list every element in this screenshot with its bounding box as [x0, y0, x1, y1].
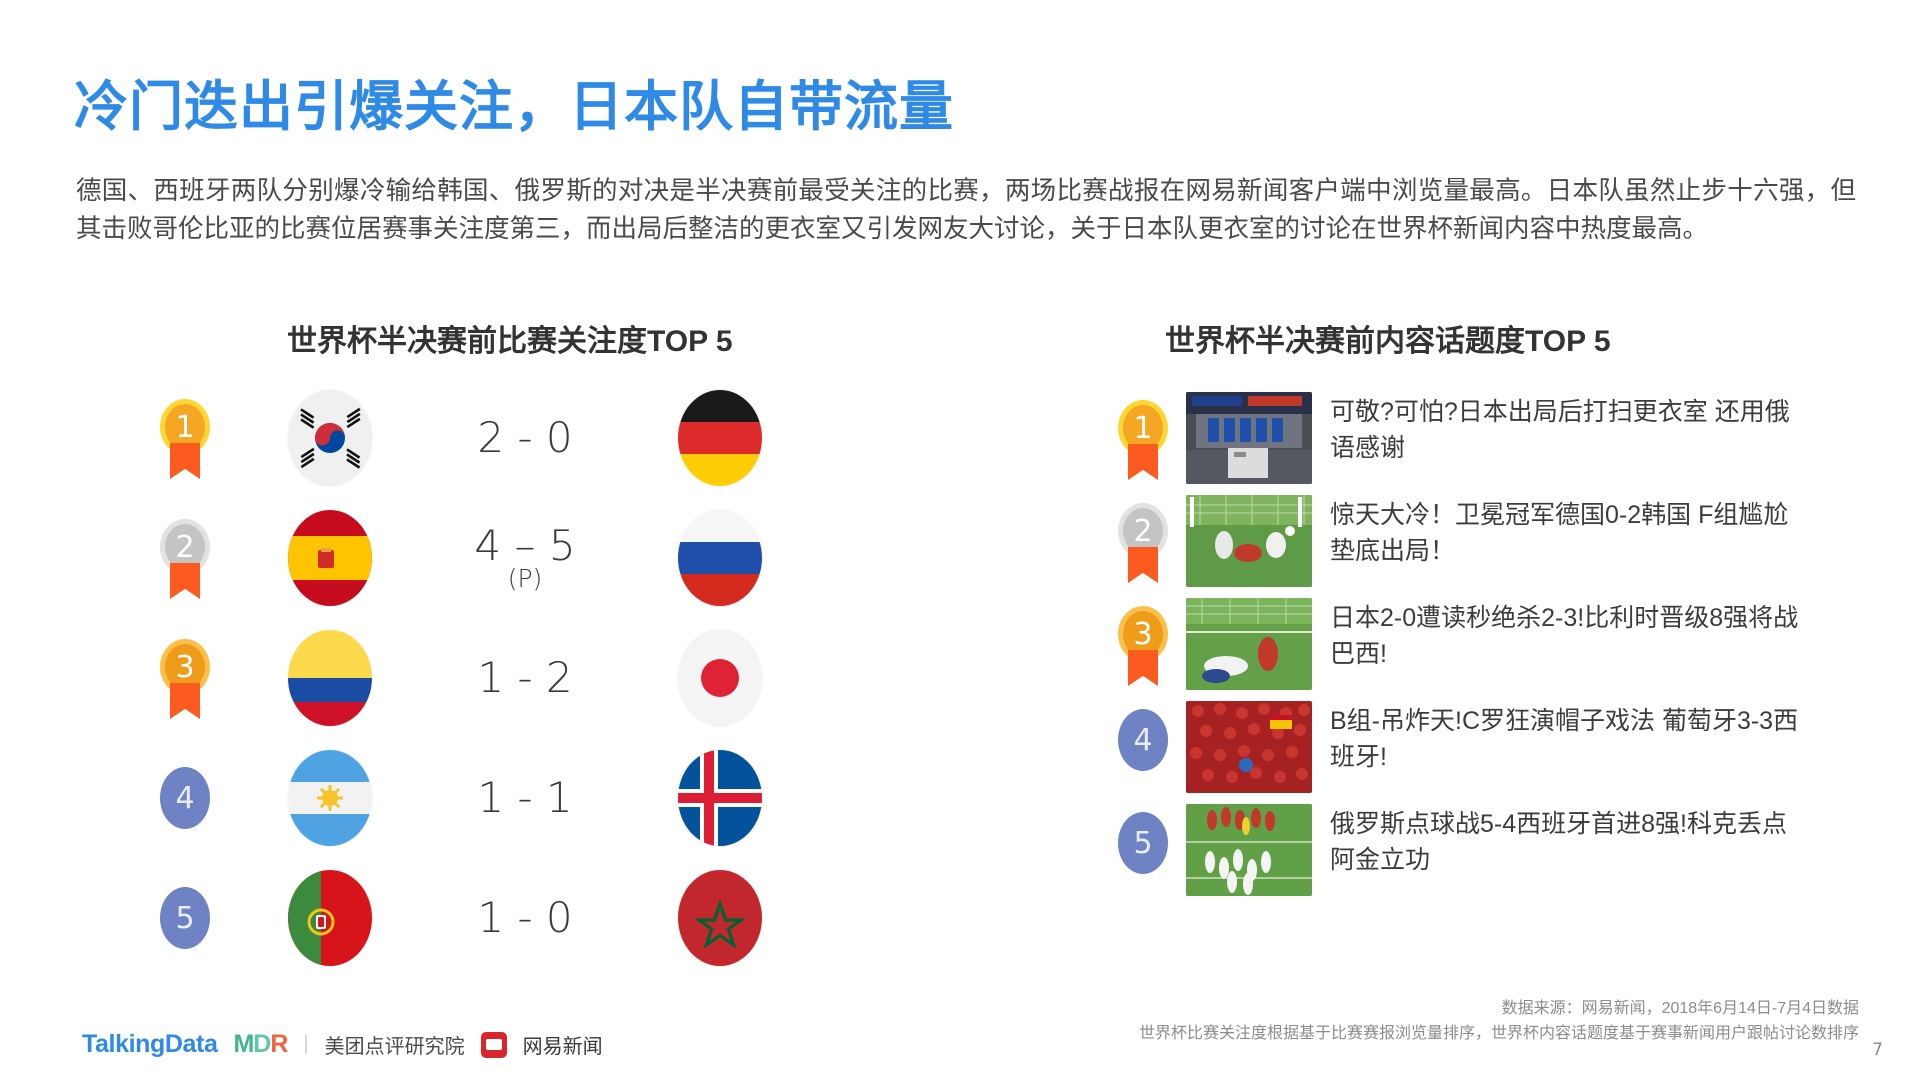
left-panel-heading: 世界杯半决赛前比赛关注度TOP 5	[287, 316, 733, 360]
medal-ribbon	[1128, 444, 1158, 480]
topic-headline[interactable]: 俄罗斯点球战5-4西班牙首进8强!科克丢点阿金立功	[1330, 804, 1800, 878]
topic-row: 3 日本2-0遭读秒绝杀2-3!比利时晋级8强将战巴西!	[1100, 598, 1890, 701]
match-list: 1	[120, 378, 920, 978]
topic-headline[interactable]: 可敬?可怕?日本出局后打扫更衣室 还用俄语感谢	[1330, 392, 1800, 466]
bronze-medal-icon: 3	[1114, 606, 1172, 684]
match-row: 3 1 - 2	[120, 618, 920, 738]
talkingdata-logo: TalkingData	[82, 1030, 217, 1059]
score-cell: 4 – 5 (P)	[410, 524, 640, 592]
mdr-logo: MDR	[233, 1030, 287, 1059]
medal-ribbon	[1128, 547, 1158, 583]
rank-cell: 2	[1100, 495, 1186, 581]
locker-room-photo[interactable]	[1186, 392, 1312, 484]
rank-circle-5: 5	[160, 887, 210, 949]
netease-news-logo: 网易新闻	[523, 1030, 603, 1059]
gold-medal-icon: 1	[1114, 400, 1172, 478]
medal-ribbon	[170, 563, 200, 599]
score-cell: 1 - 2	[410, 656, 640, 700]
source-line-1: 数据来源：网易新闻，2018年6月14日-7月4日数据	[759, 996, 1859, 1021]
gold-medal-icon: 1	[156, 399, 214, 477]
players-on-pitch-photo[interactable]	[1186, 598, 1312, 690]
flag-co-icon	[288, 630, 372, 726]
slide-root: 冷门迭出引爆关注，日本队自带流量 德国、西班牙两队分别爆冷输给韩国、俄罗斯的对决…	[0, 0, 1921, 1080]
score-value: 2 - 0	[477, 413, 572, 462]
flag-de-icon	[678, 390, 762, 486]
match-row: 1	[120, 378, 920, 498]
rank-cell: 4	[120, 767, 250, 829]
silver-medal-icon: 2	[1114, 503, 1172, 581]
rank-cell: 5	[1100, 804, 1186, 874]
logo-bar: TalkingData MDR | 美团点评研究院 网易新闻	[82, 1030, 603, 1059]
away-flag-cell	[640, 750, 800, 846]
rank-cell: 4	[1100, 701, 1186, 771]
rank-circle-4: 4	[1118, 709, 1168, 771]
match-row: 2 4 – 5 (P)	[120, 498, 920, 618]
rank-cell: 3	[1100, 598, 1186, 684]
score-cell: 1 - 0	[410, 896, 640, 940]
source-note: 数据来源：网易新闻，2018年6月14日-7月4日数据 世界杯比赛关注度根据基于…	[759, 996, 1859, 1046]
rank-circle-5: 5	[1118, 812, 1168, 874]
score-cell: 2 - 0	[410, 416, 640, 460]
bronze-medal-icon: 3	[156, 639, 214, 717]
flag-pt-icon	[288, 870, 372, 966]
flag-es-icon	[288, 510, 372, 606]
topic-list: 1	[1100, 392, 1890, 907]
meituan-research-logo: 美团点评研究院	[325, 1030, 465, 1059]
home-flag-cell	[250, 510, 410, 606]
topic-headline[interactable]: 日本2-0遭读秒绝杀2-3!比利时晋级8强将战巴西!	[1330, 598, 1800, 672]
goal-mouth-photo[interactable]	[1186, 495, 1312, 587]
away-flag-cell	[640, 630, 800, 726]
away-flag-cell	[640, 390, 800, 486]
rank-cell: 1	[1100, 392, 1186, 478]
score-value: 1 - 2	[477, 653, 572, 702]
home-flag-cell	[250, 750, 410, 846]
silver-medal-icon: 2	[156, 519, 214, 597]
score-cell: 1 - 1	[410, 776, 640, 820]
rank-cell: 1	[120, 399, 250, 477]
match-row: 4	[120, 738, 920, 858]
right-panel-heading: 世界杯半决赛前内容话题度TOP 5	[1165, 316, 1611, 360]
rank-circle-4: 4	[160, 767, 210, 829]
page-title: 冷门迭出引爆关注，日本队自带流量	[74, 62, 954, 141]
score-value: 4 – 5	[474, 521, 575, 570]
medal-ribbon	[170, 443, 200, 479]
intro-paragraph: 德国、西班牙两队分别爆冷输给韩国、俄罗斯的对决是半决赛前最受关注的比赛，两场比赛…	[76, 172, 1856, 248]
score-note: (P)	[410, 566, 640, 592]
topic-row: 5	[1100, 804, 1890, 907]
rank-cell: 5	[120, 887, 250, 949]
medal-ribbon	[170, 683, 200, 719]
flag-ru-icon	[678, 510, 762, 606]
logo-divider: |	[303, 1033, 308, 1056]
medal-ribbon	[1128, 650, 1158, 686]
score-value: 1 - 1	[477, 773, 572, 822]
red-crowd-photo[interactable]	[1186, 701, 1312, 793]
match-row: 5 1 - 0	[120, 858, 920, 978]
home-flag-cell	[250, 390, 410, 486]
topic-row: 1	[1100, 392, 1890, 495]
score-value: 1 - 0	[477, 893, 572, 942]
topic-headline[interactable]: 惊天大冷！卫冕冠军德国0-2韩国 F组尴尬垫底出局！	[1330, 495, 1800, 569]
topic-headline[interactable]: B组-吊炸天!C罗狂演帽子戏法 葡萄牙3-3西班牙!	[1330, 701, 1800, 775]
flag-kr-icon	[288, 390, 372, 486]
away-flag-cell	[640, 870, 800, 966]
flag-is-icon	[678, 750, 762, 846]
page-number: 7	[1872, 1040, 1883, 1060]
rank-cell: 2	[120, 519, 250, 597]
home-flag-cell	[250, 870, 410, 966]
flag-ar-icon	[288, 750, 372, 846]
netease-app-icon	[481, 1032, 507, 1058]
flag-ma-icon	[678, 870, 762, 966]
celebration-photo[interactable]	[1186, 804, 1312, 896]
away-flag-cell	[640, 510, 800, 606]
home-flag-cell	[250, 630, 410, 726]
source-line-2: 世界杯比赛关注度根据基于比赛赛报浏览量排序，世界杯内容话题度基于赛事新闻用户跟帖…	[759, 1021, 1859, 1046]
flag-jp-icon	[678, 630, 762, 726]
rank-cell: 3	[120, 639, 250, 717]
topic-row: 4	[1100, 701, 1890, 804]
topic-row: 2 惊天大冷！卫冕冠军德	[1100, 495, 1890, 598]
